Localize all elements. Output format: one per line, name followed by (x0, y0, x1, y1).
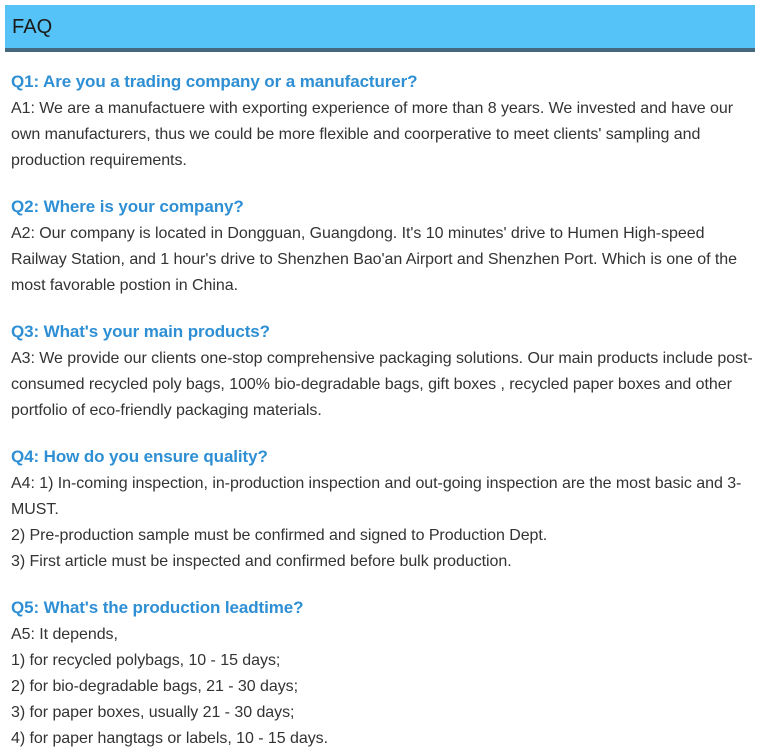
faq-answer-line: A2: Our company is located in Dongguan, … (11, 221, 755, 299)
faq-answer-line: 2) for bio-degradable bags, 21 - 30 days… (11, 674, 755, 700)
faq-answer-line: A5: It depends, (11, 622, 755, 648)
faq-question: Q2: Where is your company? (11, 196, 755, 218)
faq-question: Q1: Are you a trading company or a manuf… (11, 71, 755, 93)
faq-item: Q5: What's the production leadtime? A5: … (11, 597, 755, 752)
faq-list: Q1: Are you a trading company or a manuf… (0, 71, 765, 752)
faq-answer: A3: We provide our clients one-stop comp… (11, 346, 755, 424)
faq-answer-line: A4: 1) In-coming inspection, in-producti… (11, 471, 755, 523)
faq-question: Q4: How do you ensure quality? (11, 446, 755, 468)
faq-item: Q3: What's your main products? A3: We pr… (11, 321, 755, 424)
faq-answer: A5: It depends, 1) for recycled polybags… (11, 622, 755, 752)
faq-answer-line: 2) Pre-production sample must be confirm… (11, 523, 755, 549)
faq-answer-line: 4) for paper hangtags or labels, 10 - 15… (11, 726, 755, 752)
faq-answer-line: A3: We provide our clients one-stop comp… (11, 346, 755, 424)
faq-banner-title: FAQ (5, 16, 52, 38)
faq-answer-line: 1) for recycled polybags, 10 - 15 days; (11, 648, 755, 674)
faq-item: Q2: Where is your company? A2: Our compa… (11, 196, 755, 299)
faq-page: FAQ Q1: Are you a trading company or a m… (0, 5, 765, 753)
faq-answer: A2: Our company is located in Dongguan, … (11, 221, 755, 299)
faq-answer-line: 3) for paper boxes, usually 21 - 30 days… (11, 700, 755, 726)
faq-answer-line: A1: We are a manufactuere with exporting… (11, 96, 755, 174)
faq-question: Q5: What's the production leadtime? (11, 597, 755, 619)
faq-item: Q1: Are you a trading company or a manuf… (11, 71, 755, 174)
faq-banner: FAQ (5, 5, 755, 52)
faq-answer: A1: We are a manufactuere with exporting… (11, 96, 755, 174)
faq-item: Q4: How do you ensure quality? A4: 1) In… (11, 446, 755, 575)
faq-question: Q3: What's your main products? (11, 321, 755, 343)
faq-answer: A4: 1) In-coming inspection, in-producti… (11, 471, 755, 575)
faq-answer-line: 3) First article must be inspected and c… (11, 549, 755, 575)
